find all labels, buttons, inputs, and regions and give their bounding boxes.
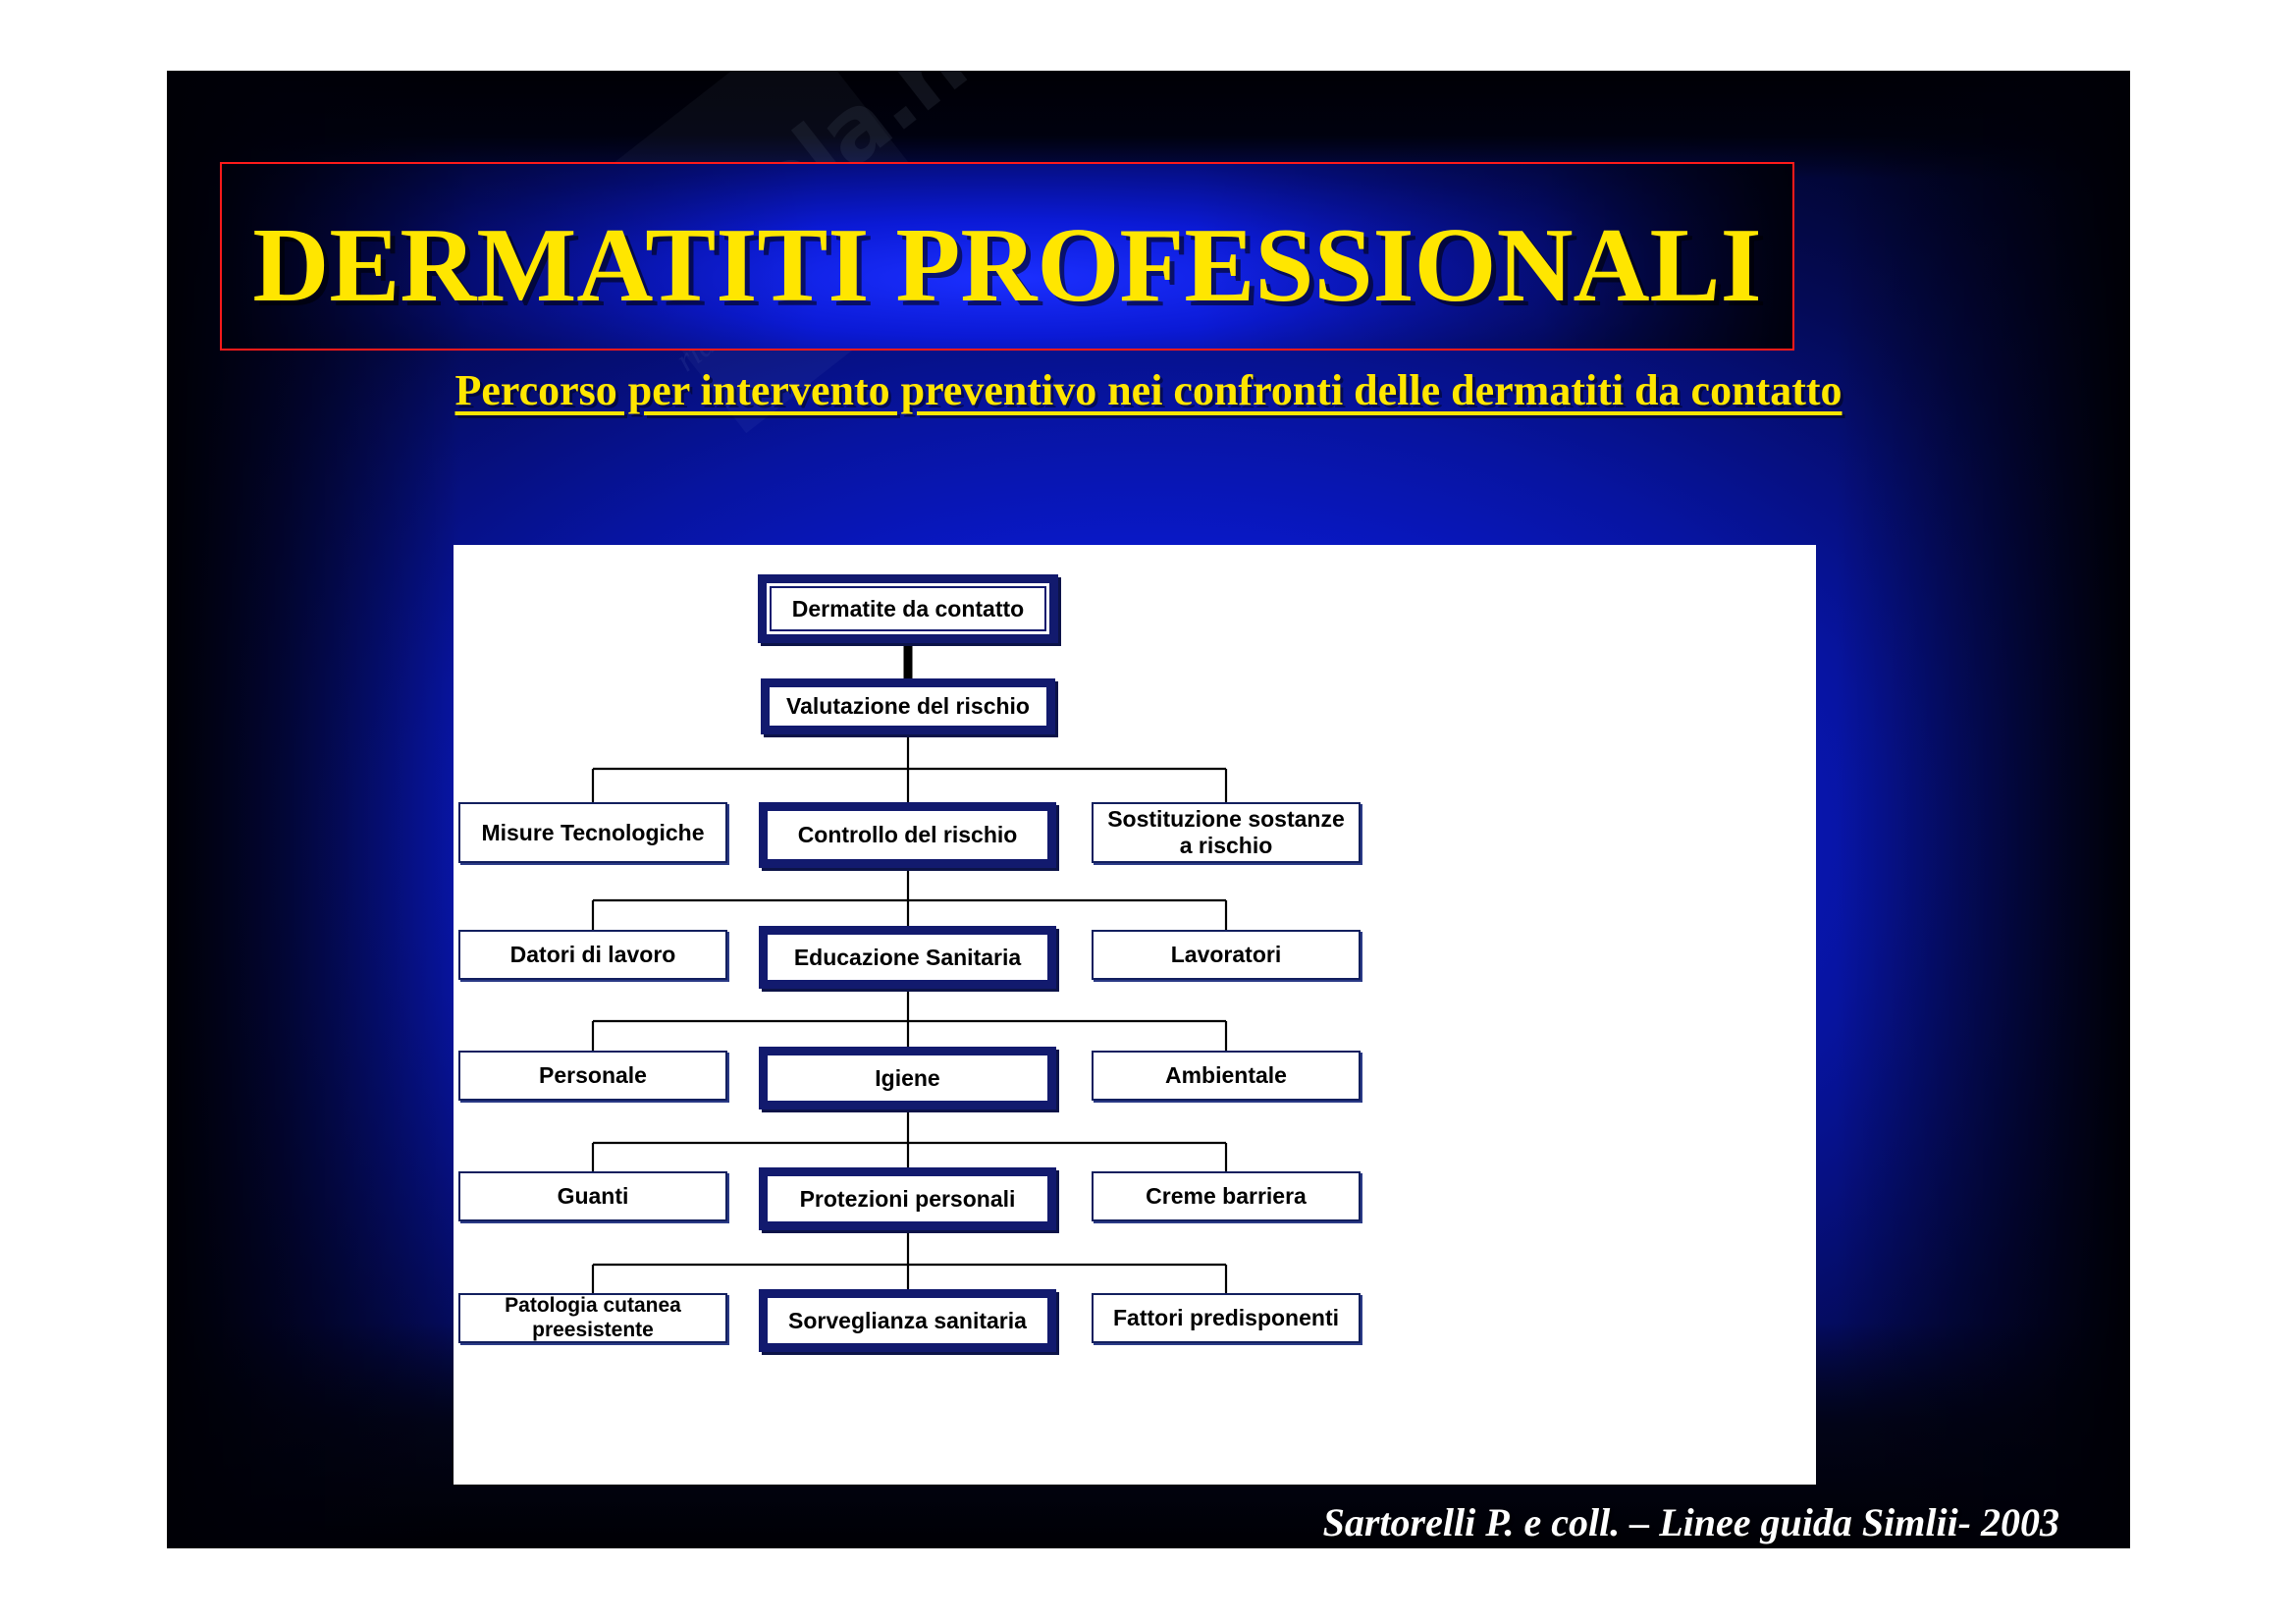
node-sorveglianza-sanitaria[interactable]: Sorveglianza sanitaria (759, 1289, 1056, 1352)
node-label: Fattori predisponenti (1103, 1305, 1349, 1331)
node-label: Igiene (865, 1065, 949, 1092)
diagram-connectors (454, 545, 1816, 1485)
node-datori-di-lavoro[interactable]: Datori di lavoro (458, 930, 727, 980)
source-credit: Sartorelli P. e coll. – Linee guida Siml… (1323, 1499, 2059, 1545)
node-label-line2: a rischio (1170, 833, 1283, 859)
node-lavoratori[interactable]: Lavoratori (1092, 930, 1361, 980)
node-label: Dermatite da contatto (782, 596, 1034, 622)
node-label: Creme barriera (1136, 1183, 1316, 1210)
node-ambientale[interactable]: Ambientale (1092, 1051, 1361, 1101)
node-personale[interactable]: Personale (458, 1051, 727, 1101)
diagram-canvas: Dermatite da contatto Valutazione del ri… (454, 545, 1816, 1485)
node-dermatite-da-contatto[interactable]: Dermatite da contatto (758, 574, 1058, 643)
node-label: Valutazione del rischio (776, 693, 1040, 720)
node-label: Guanti (548, 1183, 639, 1210)
node-creme-barriera[interactable]: Creme barriera (1092, 1171, 1361, 1221)
page-title: DERMATITI PROFESSIONALI (222, 213, 1792, 319)
node-label: Ambientale (1155, 1062, 1297, 1089)
node-patologia-cutanea-preesistente[interactable]: Patologia cutanea preesistente (458, 1293, 727, 1343)
node-protezioni-personali[interactable]: Protezioni personali (759, 1167, 1056, 1230)
node-label: Datori di lavoro (501, 942, 686, 968)
node-valutazione-del-rischio[interactable]: Valutazione del rischio (761, 678, 1055, 734)
node-fattori-predisponenti[interactable]: Fattori predisponenti (1092, 1293, 1361, 1343)
node-educazione-sanitaria[interactable]: Educazione Sanitaria (759, 926, 1056, 989)
node-label: Misure Tecnologiche (471, 820, 714, 846)
node-guanti[interactable]: Guanti (458, 1171, 727, 1221)
node-label: Patologia cutanea preesistente (460, 1294, 725, 1342)
node-label: Protezioni personali (790, 1186, 1026, 1213)
node-label: Sorveglianza sanitaria (778, 1308, 1037, 1334)
node-label: Personale (529, 1062, 657, 1089)
node-sostituzione-sostanze-a-rischio[interactable]: Sostituzione sostanze a rischio (1092, 802, 1361, 863)
node-igiene[interactable]: Igiene (759, 1047, 1056, 1109)
node-label: Lavoratori (1161, 942, 1291, 968)
diagram-panel: Dermatite da contatto Valutazione del ri… (454, 545, 1816, 1485)
node-misure-tecnologiche[interactable]: Misure Tecnologiche (458, 802, 727, 863)
slide-subtitle: Percorso per intervento preventivo nei c… (167, 365, 2130, 415)
node-label: Educazione Sanitaria (784, 945, 1031, 971)
node-label-line1: Sostituzione sostanze (1097, 806, 1355, 833)
node-controllo-del-rischio[interactable]: Controllo del rischio (759, 802, 1056, 868)
node-label: Controllo del rischio (788, 822, 1028, 848)
slide-background-right-fade (1836, 71, 2130, 1548)
presentation-slide: Skuola.net riassunto dello studente DERM… (167, 71, 2130, 1548)
title-frame: DERMATITI PROFESSIONALI (220, 162, 1794, 351)
